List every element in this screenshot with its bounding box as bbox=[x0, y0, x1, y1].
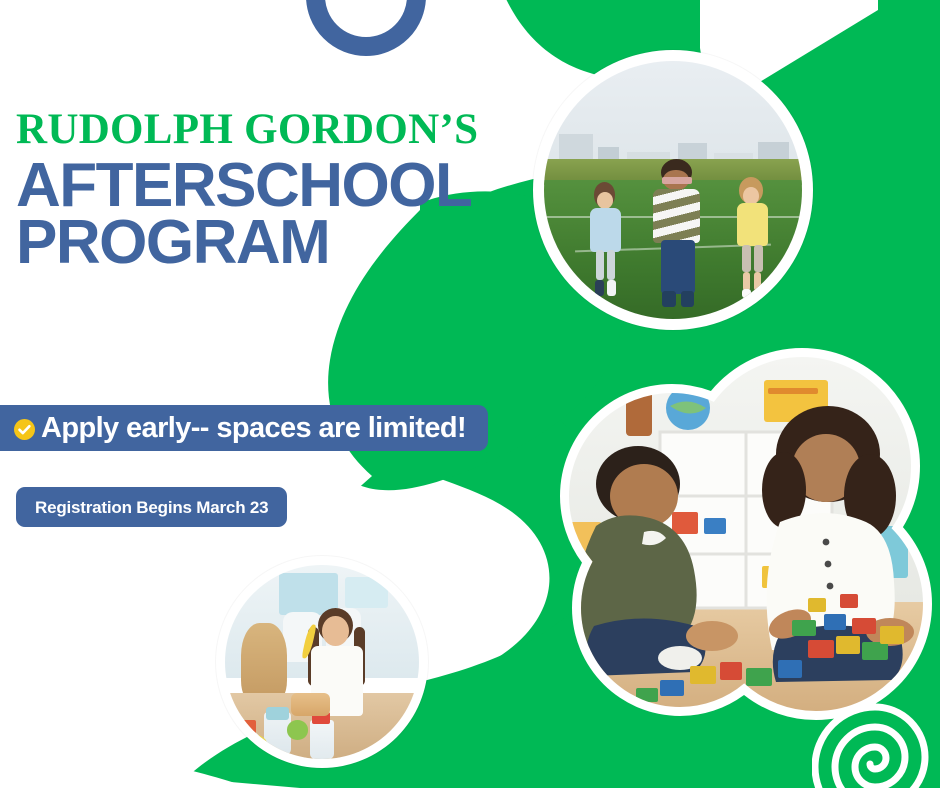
photo-children-building-blocks bbox=[540, 336, 940, 736]
field-scene bbox=[544, 61, 802, 319]
check-circle-icon bbox=[14, 419, 35, 440]
registration-button-label: Registration Begins March 23 bbox=[35, 499, 268, 516]
photo-children-running-field bbox=[533, 50, 813, 330]
photo-image bbox=[225, 565, 419, 759]
page-eyebrow: RUDOLPH GORDON’S bbox=[16, 108, 496, 151]
blue-ring-decoration bbox=[306, 0, 426, 56]
headline-block: RUDOLPH GORDON’S AFTERSCHOOL PROGRAM bbox=[16, 108, 496, 271]
photo-image bbox=[544, 61, 802, 319]
registration-button[interactable]: Registration Begins March 23 bbox=[16, 487, 287, 527]
flyer-canvas: RUDOLPH GORDON’S AFTERSCHOOL PROGRAM App… bbox=[0, 0, 940, 788]
lunch-scene bbox=[225, 565, 419, 759]
apply-early-banner: Apply early-- spaces are limited! bbox=[0, 405, 488, 451]
banner-text: Apply early-- spaces are limited! bbox=[41, 414, 466, 443]
page-title-line-1: AFTERSCHOOL bbox=[16, 157, 496, 214]
page-title: AFTERSCHOOL PROGRAM bbox=[16, 157, 496, 271]
photo-girl-lunch-table bbox=[216, 556, 428, 768]
page-title-line-2: PROGRAM bbox=[16, 214, 496, 271]
